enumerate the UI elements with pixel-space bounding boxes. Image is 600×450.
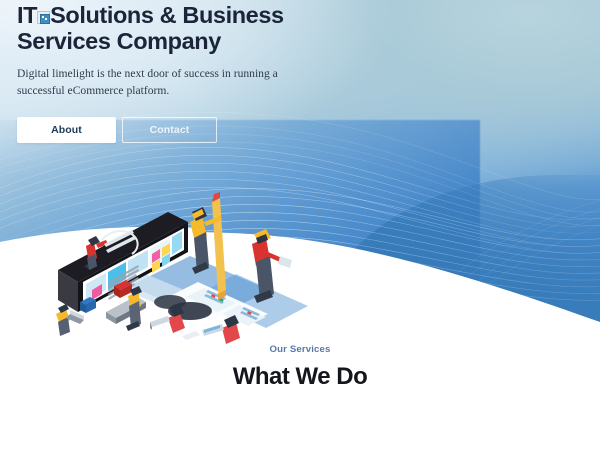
page-root: ITSolutions & Business Services Company … — [0, 0, 600, 450]
services-section: Our Services What We Do — [0, 344, 600, 391]
hero-copy: ITSolutions & Business Services Company … — [17, 2, 337, 143]
services-eyebrow: Our Services — [0, 344, 600, 355]
hero-subcopy: Digital limelight is the next door of su… — [17, 66, 305, 99]
paper-stack — [180, 327, 200, 340]
services-title: What We Do — [0, 363, 600, 391]
hero-button-row: About Contact — [17, 117, 337, 143]
headline-text-part1: IT — [17, 2, 37, 28]
broken-image-icon — [37, 11, 50, 24]
headline-text-part2: Solutions & Business Services Company — [17, 2, 284, 54]
page-title: ITSolutions & Business Services Company — [17, 2, 337, 54]
worker-seated-center — [150, 306, 185, 333]
hero-section: ITSolutions & Business Services Company … — [0, 0, 600, 360]
hero-illustration — [40, 178, 340, 348]
about-button[interactable]: About — [17, 117, 116, 143]
contact-button[interactable]: Contact — [122, 117, 217, 143]
